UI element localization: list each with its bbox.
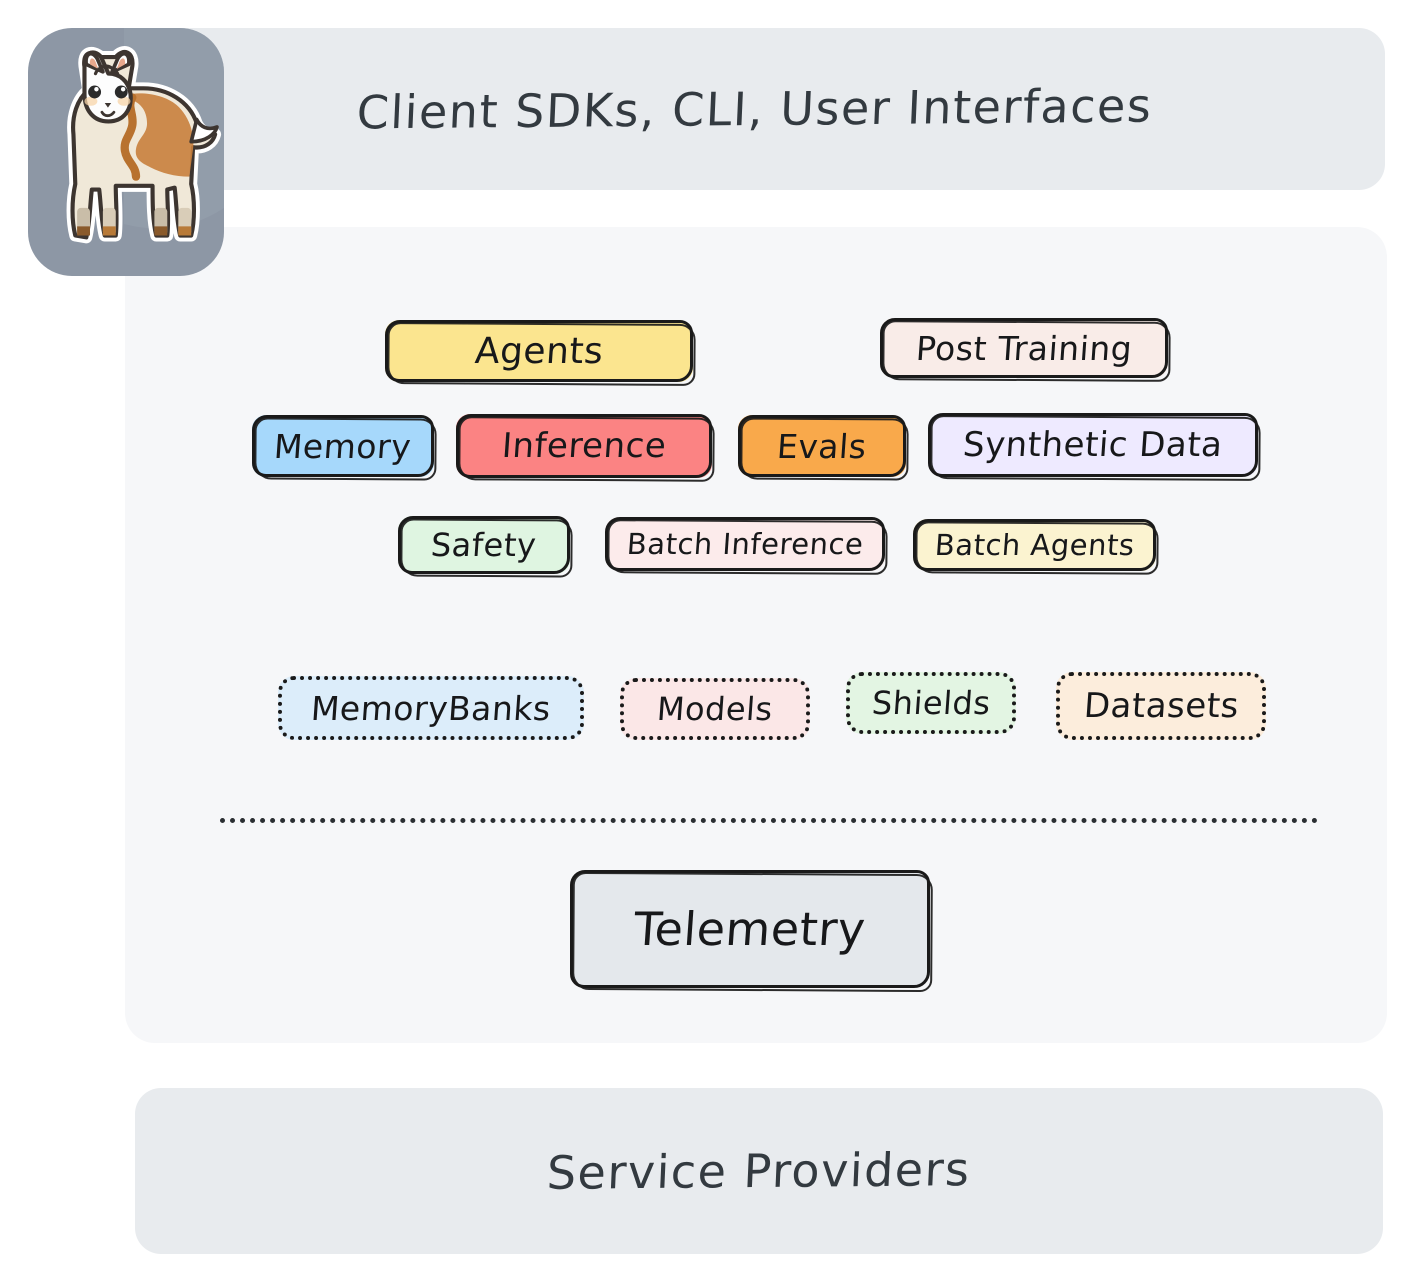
api-box-batch-agents[interactable]: Batch Agents xyxy=(913,519,1156,571)
api-box-evals-label: Evals xyxy=(776,427,868,466)
resource-box-datasets-label: Datasets xyxy=(1082,686,1240,726)
llama-logo-tile xyxy=(28,28,224,276)
resource-box-shields-label: Shields xyxy=(870,684,991,722)
client-sdks-banner-label: Client SDKs, CLI, User Interfaces xyxy=(356,79,1154,140)
resource-box-shields[interactable]: Shields xyxy=(846,672,1016,734)
api-box-synthetic-data-label: Synthetic Data xyxy=(962,425,1224,465)
api-box-safety[interactable]: Safety xyxy=(398,516,570,574)
telemetry-label: Telemetry xyxy=(632,902,867,956)
api-box-batch-inference[interactable]: Batch Inference xyxy=(605,517,885,571)
api-box-evals[interactable]: Evals xyxy=(738,415,906,477)
dotted-divider xyxy=(220,818,1318,823)
diagram-canvas: Client SDKs, CLI, User Interfaces xyxy=(0,0,1410,1268)
resource-box-memorybanks-label: MemoryBanks xyxy=(310,689,553,728)
api-box-agents-label: Agents xyxy=(473,331,604,372)
api-box-agents[interactable]: Agents xyxy=(385,320,693,382)
api-box-post-training[interactable]: Post Training xyxy=(880,318,1168,378)
resource-box-datasets[interactable]: Datasets xyxy=(1056,672,1266,740)
resource-box-models[interactable]: Models xyxy=(620,678,810,740)
llama-icon xyxy=(28,28,224,276)
api-box-batch-agents-label: Batch Agents xyxy=(934,528,1136,562)
api-box-post-training-label: Post Training xyxy=(915,329,1134,368)
client-sdks-banner: Client SDKs, CLI, User Interfaces xyxy=(125,28,1385,190)
api-box-safety-label: Safety xyxy=(430,526,538,564)
api-box-inference-label: Inference xyxy=(500,426,667,466)
telemetry-box[interactable]: Telemetry xyxy=(570,870,930,988)
resource-box-memorybanks[interactable]: MemoryBanks xyxy=(278,676,584,740)
api-box-batch-inference-label: Batch Inference xyxy=(626,527,865,561)
api-box-memory-label: Memory xyxy=(273,427,413,466)
api-box-synthetic-data[interactable]: Synthetic Data xyxy=(928,413,1258,477)
api-box-memory[interactable]: Memory xyxy=(252,415,434,477)
resource-box-models-label: Models xyxy=(656,690,774,728)
api-box-inference[interactable]: Inference xyxy=(456,414,712,478)
service-providers-banner: Service Providers xyxy=(135,1088,1383,1254)
service-providers-banner-label: Service Providers xyxy=(546,1142,972,1200)
